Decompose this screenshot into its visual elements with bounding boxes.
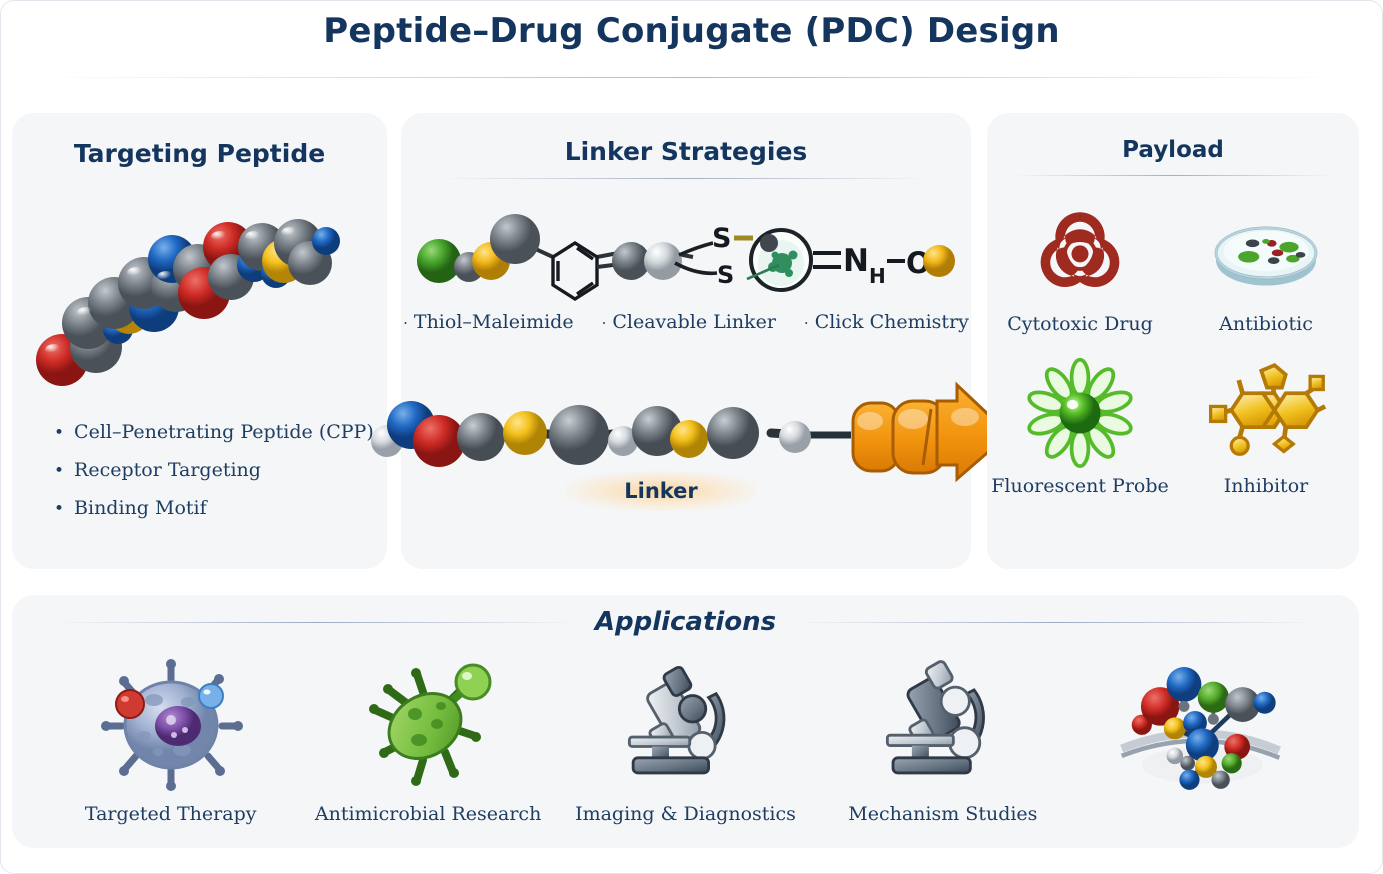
linker-highlight-label: Linker: [566, 471, 756, 511]
panel-title-targeting-peptide: Targeting Peptide: [12, 113, 387, 168]
bullet-marker-icon: ·: [403, 314, 408, 332]
payload-item-fluorescent-probe[interactable]: Fluorescent Probe: [987, 353, 1173, 497]
panel-targeting-peptide: Targeting Peptide: [12, 113, 387, 569]
application-item-targeted-therapy[interactable]: Targeted Therapy: [66, 647, 276, 825]
page-title: Peptide–Drug Conjugate (PDC) Design: [1, 11, 1382, 51]
panel-linker-strategies: Linker Strategies: [401, 113, 971, 569]
panel-title-linker-strategies: Linker Strategies: [401, 113, 971, 166]
bullet-label: Cell–Penetrating Peptide (CPP): [74, 421, 374, 443]
panel-applications: Applications: [12, 595, 1359, 848]
linker-divider: [441, 178, 931, 179]
bullet-label: Binding Motif: [74, 497, 207, 519]
peptide-bullet-list: • Cell–Penetrating Peptide (CPP) • Recep…: [54, 421, 374, 535]
payload-label: Inhibitor: [1224, 475, 1308, 497]
strategy-label: Thiol–Maleimide: [414, 311, 574, 333]
application-item-mechanism-studies[interactable]: Mechanism Studies: [838, 647, 1048, 825]
fluorescent-burst-icon: [1015, 353, 1145, 473]
panel-title-payload: Payload: [987, 113, 1359, 163]
application-item-imaging-diagnostics[interactable]: Imaging & Diagnostics: [580, 647, 790, 825]
application-item-membrane-mechanism[interactable]: [1095, 647, 1305, 803]
bullet-marker-icon: •: [54, 463, 64, 480]
payload-label: Cytotoxic Drug: [1007, 313, 1153, 335]
application-label: Imaging & Diagnostics: [575, 803, 796, 825]
list-item: · Click Chemistry: [804, 311, 969, 333]
application-item-antimicrobial-research[interactable]: Antimicrobial Research: [323, 647, 533, 825]
bullet-marker-icon: •: [54, 501, 64, 518]
list-item: · Cleavable Linker: [602, 311, 776, 333]
list-item: • Receptor Targeting: [54, 459, 374, 481]
space-filling-peptide-model: [26, 195, 374, 400]
applications-header: Applications: [12, 607, 1359, 637]
list-item: · Thiol–Maleimide: [403, 311, 573, 333]
molecule-rings-icon: [1201, 353, 1331, 473]
bullet-marker-icon: •: [54, 425, 64, 442]
bullet-label: Receptor Targeting: [74, 459, 261, 481]
panel-payload: Payload Cytotoxic Drug: [987, 113, 1359, 569]
svg-text:S: S: [712, 223, 731, 254]
diagram-canvas: Peptide–Drug Conjugate (PDC) Design Targ…: [0, 0, 1383, 874]
panel-title-applications: Applications: [595, 607, 776, 637]
strategy-label: Click Chemistry: [815, 311, 969, 333]
strategy-label: Cleavable Linker: [612, 311, 776, 333]
linker-strategy-list: · Thiol–Maleimide · Cleavable Linker · C…: [401, 311, 971, 333]
application-label: Targeted Therapy: [85, 803, 257, 825]
svg-text:H: H: [869, 264, 886, 288]
bullet-marker-icon: ·: [804, 314, 809, 332]
payload-grid: Cytotoxic Drug: [987, 191, 1359, 497]
svg-text:N: N: [843, 243, 869, 279]
application-label: Antimicrobial Research: [315, 803, 541, 825]
applications-divider-left: [54, 622, 577, 623]
title-divider: [41, 77, 1342, 78]
svg-text:S: S: [717, 261, 734, 289]
bullet-marker-icon: ·: [602, 314, 607, 332]
thiol-maleimide-disulfide-click-structure: S S N H: [417, 205, 955, 315]
payload-label: Fluorescent Probe: [991, 475, 1169, 497]
payload-divider: [1013, 175, 1333, 176]
biohazard-icon: [1015, 191, 1145, 311]
payload-label: Antibiotic: [1219, 313, 1313, 335]
list-item: • Binding Motif: [54, 497, 374, 519]
applications-row: Targeted Therapy: [12, 647, 1359, 825]
payload-item-cytotoxic-drug[interactable]: Cytotoxic Drug: [987, 191, 1173, 335]
list-item: • Cell–Penetrating Peptide (CPP): [54, 421, 374, 443]
microscope-icon: [603, 647, 768, 797]
membrane-molecule-icon: [1118, 647, 1283, 797]
cancer-cell-icon: [88, 647, 253, 797]
application-label: Mechanism Studies: [848, 803, 1037, 825]
payload-item-inhibitor[interactable]: Inhibitor: [1173, 353, 1359, 497]
applications-divider-right: [794, 622, 1317, 623]
petri-dish-icon: [1201, 191, 1331, 311]
microscope-icon: [860, 647, 1025, 797]
payload-item-antibiotic[interactable]: Antibiotic: [1173, 191, 1359, 335]
bacterium-icon: [346, 647, 511, 797]
